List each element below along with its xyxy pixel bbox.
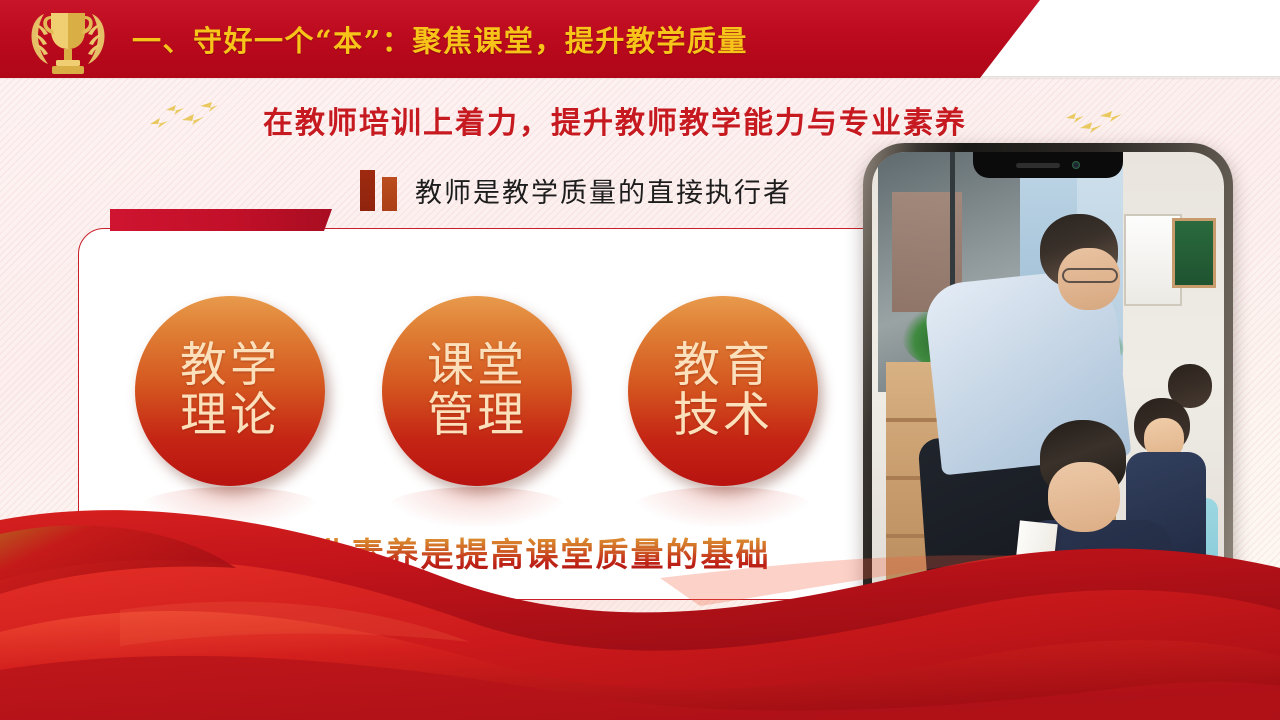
teacher-glasses-icon: [1062, 268, 1118, 283]
phone-screen: 语文: [872, 152, 1224, 659]
phone-notch: [973, 152, 1123, 178]
concept-circle-3[interactable]: 教育 技术: [628, 296, 818, 486]
textbook-title: 语文: [1090, 607, 1129, 659]
concept-circle-1-line2: 理论: [180, 391, 280, 441]
concept-circle-3-line2: 技术: [673, 391, 773, 441]
circle-reflection: [633, 487, 813, 527]
concept-circle-1-line1: 教学: [180, 341, 280, 391]
phone-speaker-icon: [1016, 163, 1060, 168]
concept-circle-2-line1: 课堂: [427, 341, 527, 391]
concept-circle-2-line2: 管理: [427, 391, 527, 441]
concept-circle-1[interactable]: 教学 理论: [135, 296, 325, 486]
phone-frame-inner: 语文: [872, 152, 1224, 659]
subheading-row: 教师是教学质量的直接执行者: [360, 168, 792, 212]
card-folder-tab: [110, 209, 332, 231]
accent-bar-light: [382, 177, 397, 211]
card-caption: 教师的专业素养是提高课堂质量的基础: [78, 528, 868, 576]
wall-poster-2: [1172, 218, 1216, 288]
page-title: 一、守好一个“本”：聚焦课堂，提升教学质量: [132, 18, 748, 60]
student-face: [1048, 462, 1120, 532]
concept-circle-3-line1: 教育: [673, 341, 773, 391]
section-subtitle: 在教师培训上着力，提升教师教学能力与专业素养: [0, 98, 1230, 142]
phone-camera-icon: [1072, 161, 1080, 169]
concept-circle-2[interactable]: 课堂 管理: [382, 296, 572, 486]
slide-stage: 一、守好一个“本”：聚焦课堂，提升教学质量 在教师培训上着力，提升教师教学能力与…: [0, 0, 1280, 720]
accent-bar-dark: [360, 170, 375, 211]
phone-mockup: 语文: [863, 143, 1233, 668]
golden-birds-icon-right: [1064, 106, 1126, 142]
banner-white-cap: [1008, 0, 1280, 78]
subheading-text: 教师是教学质量的直接执行者: [415, 171, 792, 210]
trophy-icon: [18, 4, 118, 78]
circle-reflection: [387, 487, 567, 527]
textbook-cover: 语文: [1041, 584, 1177, 659]
circle-reflection: [140, 487, 320, 527]
